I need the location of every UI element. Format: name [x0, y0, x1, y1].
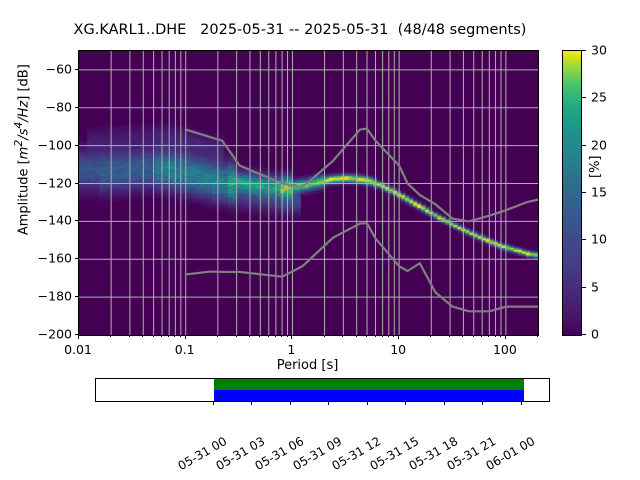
colorbar-tick-mark	[582, 334, 586, 335]
x-axis-minor-tick	[393, 335, 394, 337]
colorbar-tick-label: 0	[591, 327, 599, 342]
y-axis-tick-mark	[75, 107, 79, 108]
x-axis-tick-mark	[78, 335, 79, 339]
x-axis-minor-tick	[174, 335, 175, 337]
y-axis-label: Amplitude [m2/s4/Hz] [dB]	[12, 20, 31, 280]
coverage-tick-mark	[444, 401, 445, 405]
colorbar-tick-label: 5	[591, 279, 599, 294]
x-axis-tick-label: 0.1	[175, 342, 195, 357]
y-axis-tick-mark	[75, 183, 79, 184]
x-axis-tick-mark	[185, 335, 186, 339]
x-axis-tick-label: 1	[287, 342, 295, 357]
x-axis-minor-tick	[275, 335, 276, 337]
colorbar-tick-label: 30	[591, 43, 607, 58]
x-axis-minor-tick	[375, 335, 376, 337]
x-axis-minor-tick	[324, 335, 325, 337]
x-axis-tick-mark	[505, 335, 506, 339]
x-axis-minor-tick	[268, 335, 269, 337]
x-axis-label: Period [s]	[78, 358, 537, 373]
coverage-tick-mark	[482, 401, 483, 405]
x-axis-tick-label: 10	[390, 342, 406, 357]
x-axis-minor-tick	[168, 335, 169, 337]
y-axis-tick-label: −180	[16, 289, 72, 304]
colorbar[interactable]	[562, 50, 582, 336]
x-axis-minor-tick	[110, 335, 111, 337]
x-axis-minor-tick	[180, 335, 181, 337]
x-axis-minor-tick	[342, 335, 343, 337]
colorbar-tick-label: 25	[591, 90, 607, 105]
coverage-time-axis: 05-31 0005-31 0305-31 0605-31 0905-31 12…	[95, 401, 548, 471]
colorbar-tick-mark	[582, 192, 586, 193]
x-axis-minor-tick	[488, 335, 489, 337]
x-axis-minor-tick	[161, 335, 162, 337]
y-axis-tick-label: −200	[16, 327, 72, 342]
coverage-tick-mark	[328, 401, 329, 405]
x-axis-minor-tick	[500, 335, 501, 337]
coverage-tick-mark	[367, 401, 368, 405]
colorbar-tick-mark	[582, 239, 586, 240]
colorbar-ticks: 051015202530	[582, 50, 622, 334]
colorbar-tick-label: 10	[591, 232, 607, 247]
x-axis-minor-tick	[153, 335, 154, 337]
colorbar-tick-mark	[582, 50, 586, 51]
ppsd-plot-area[interactable]	[78, 50, 539, 336]
x-axis-minor-tick	[382, 335, 383, 337]
coverage-band-percentage	[214, 390, 524, 401]
x-axis-minor-tick	[537, 335, 538, 337]
x-axis-minor-tick	[473, 335, 474, 337]
x-axis-minor-tick	[356, 335, 357, 337]
coverage-tick-mark	[213, 401, 214, 405]
x-axis-minor-tick	[366, 335, 367, 337]
x-axis-minor-tick	[462, 335, 463, 337]
colorbar-tick-label: 20	[591, 137, 607, 152]
coverage-tick-mark	[521, 401, 522, 405]
x-axis-tick-label: 0.01	[64, 342, 92, 357]
x-axis-minor-tick	[449, 335, 450, 337]
page-title: XG.KARL1..DHE 2025-05-31 -- 2025-05-31 (…	[0, 22, 600, 38]
x-axis-minor-tick	[236, 335, 237, 337]
x-axis-tick-mark	[291, 335, 292, 339]
x-axis-minor-tick	[217, 335, 218, 337]
colorbar-tick-mark	[582, 97, 586, 98]
x-axis-minor-tick	[388, 335, 389, 337]
x-axis-minor-tick	[142, 335, 143, 337]
x-axis-minor-tick	[287, 335, 288, 337]
colorbar-gradient	[563, 51, 581, 335]
x-axis-tick-label: 100	[493, 342, 517, 357]
x-axis-minor-tick	[430, 335, 431, 337]
colorbar-tick-mark	[582, 145, 586, 146]
x-axis-minor-tick	[249, 335, 250, 337]
coverage-tick-mark	[251, 401, 252, 405]
y-axis-tick-mark	[75, 258, 79, 259]
y-axis-tick-mark	[75, 220, 79, 221]
colorbar-label: [%]	[588, 156, 603, 179]
x-axis-minor-tick	[281, 335, 282, 337]
coverage-tick-mark	[405, 401, 406, 405]
peterson-noise-model-curves	[79, 51, 538, 335]
colorbar-tick-mark	[582, 287, 586, 288]
x-axis-minor-tick	[481, 335, 482, 337]
colorbar-tick-label: 15	[591, 185, 607, 200]
x-axis-minor-tick	[259, 335, 260, 337]
x-axis-minor-tick	[495, 335, 496, 337]
y-axis-tick-mark	[75, 69, 79, 70]
y-axis-tick-mark	[75, 145, 79, 146]
time-coverage-bar[interactable]	[95, 378, 550, 402]
x-axis-minor-tick	[129, 335, 130, 337]
x-axis-tick-mark	[398, 335, 399, 339]
coverage-band-available	[214, 379, 524, 390]
coverage-tick-mark	[290, 401, 291, 405]
y-axis-tick-mark	[75, 296, 79, 297]
